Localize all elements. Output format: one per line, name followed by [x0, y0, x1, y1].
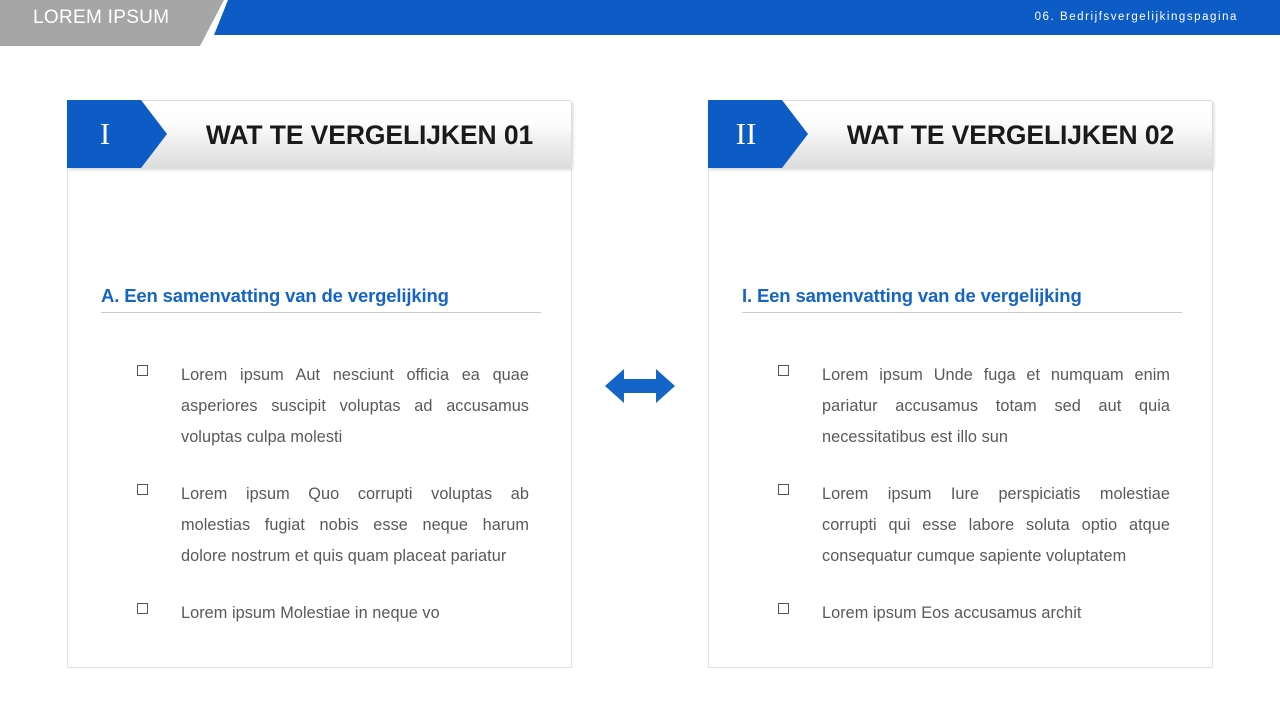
square-bullet-icon: [137, 603, 148, 614]
card-subtitle-block: A. Een samenvatting van de vergelijking: [101, 285, 541, 313]
page-title-label: 06. Bedrijfsvergelijkingspagina: [1035, 0, 1238, 35]
list-item: Lorem ipsum Molestiae in neque vo: [68, 598, 573, 629]
card-header: II WAT TE VERGELIJKEN 02: [708, 100, 1213, 168]
card-numeral: I: [67, 100, 143, 168]
list-item: Lorem ipsum Aut nesciunt officia ea quae…: [68, 360, 573, 453]
bullet-list: Lorem ipsum Aut nesciunt officia ea quae…: [68, 360, 573, 655]
comparison-arrow: [605, 366, 675, 406]
list-item-text: Lorem ipsum Unde fuga et numquam enim pa…: [822, 360, 1170, 453]
comparison-card-1: A. Een samenvatting van de vergelijking …: [67, 100, 572, 668]
card-header: I WAT TE VERGELIJKEN 01: [67, 100, 572, 168]
square-bullet-icon: [137, 484, 148, 495]
list-item-text: Lorem ipsum Aut nesciunt officia ea quae…: [181, 360, 529, 453]
brand-label: LOREM IPSUM: [33, 0, 169, 35]
square-bullet-icon: [778, 484, 789, 495]
list-item: Lorem ipsum Quo corrupti voluptas ab mol…: [68, 479, 573, 572]
card-title: WAT TE VERGELIJKEN 02: [808, 100, 1213, 168]
list-item-text: Lorem ipsum Molestiae in neque vo: [181, 598, 529, 629]
square-bullet-icon: [137, 365, 148, 376]
card-subtitle: A. Een samenvatting van de vergelijking: [101, 285, 541, 306]
list-item-text: Lorem ipsum Quo corrupti voluptas ab mol…: [181, 479, 529, 572]
list-item-text: Lorem ipsum Eos accusamus archit: [822, 598, 1170, 629]
top-banner: LOREM IPSUM 06. Bedrijfsvergelijkingspag…: [0, 0, 1280, 46]
card-subtitle: I. Een samenvatting van de vergelijking: [742, 285, 1182, 306]
subtitle-divider: [742, 312, 1182, 313]
square-bullet-icon: [778, 603, 789, 614]
card-body: A. Een samenvatting van de vergelijking …: [67, 168, 572, 668]
card-numeral: II: [708, 100, 784, 168]
list-item-text: Lorem ipsum Iure perspiciatis molestiae …: [822, 479, 1170, 572]
card-title: WAT TE VERGELIJKEN 01: [167, 100, 572, 168]
comparison-card-2: I. Een samenvatting van de vergelijking …: [708, 100, 1213, 668]
double-arrow-horizontal-icon: [605, 366, 675, 406]
square-bullet-icon: [778, 365, 789, 376]
list-item: Lorem ipsum Unde fuga et numquam enim pa…: [709, 360, 1214, 453]
card-subtitle-block: I. Een samenvatting van de vergelijking: [742, 285, 1182, 313]
card-body: I. Een samenvatting van de vergelijking …: [708, 168, 1213, 668]
list-item: Lorem ipsum Eos accusamus archit: [709, 598, 1214, 629]
bullet-list: Lorem ipsum Unde fuga et numquam enim pa…: [709, 360, 1214, 655]
slide-canvas: LOREM IPSUM 06. Bedrijfsvergelijkingspag…: [0, 0, 1280, 720]
list-item: Lorem ipsum Iure perspiciatis molestiae …: [709, 479, 1214, 572]
subtitle-divider: [101, 312, 541, 313]
